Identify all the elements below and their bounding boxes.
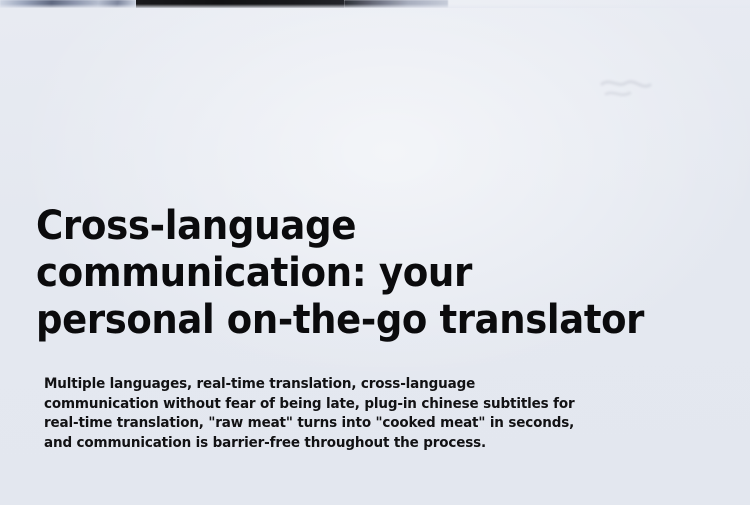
top-image-strip [0, 0, 750, 8]
description-line-2: communication without fear of being late… [44, 395, 662, 415]
hero-description: Multiple languages, real-time translatio… [44, 375, 684, 453]
description-line-3: real-time translation, "raw meat" turns … [44, 414, 662, 434]
description-line-1: Multiple languages, real-time translatio… [44, 375, 662, 395]
headline-line-1: Cross-language [36, 203, 678, 250]
headline-line-3: personal on-the-go translator [36, 297, 674, 344]
description-line-4: and communication is barrier-free throug… [44, 434, 662, 454]
watermark-smudge-icon [600, 74, 652, 108]
page-title: Cross-language communication: your perso… [36, 203, 726, 344]
hero-banner: Cross-language communication: your perso… [0, 0, 750, 505]
top-strip-fade-overlay [0, 4, 750, 8]
headline-line-2: communication: your [36, 250, 678, 297]
